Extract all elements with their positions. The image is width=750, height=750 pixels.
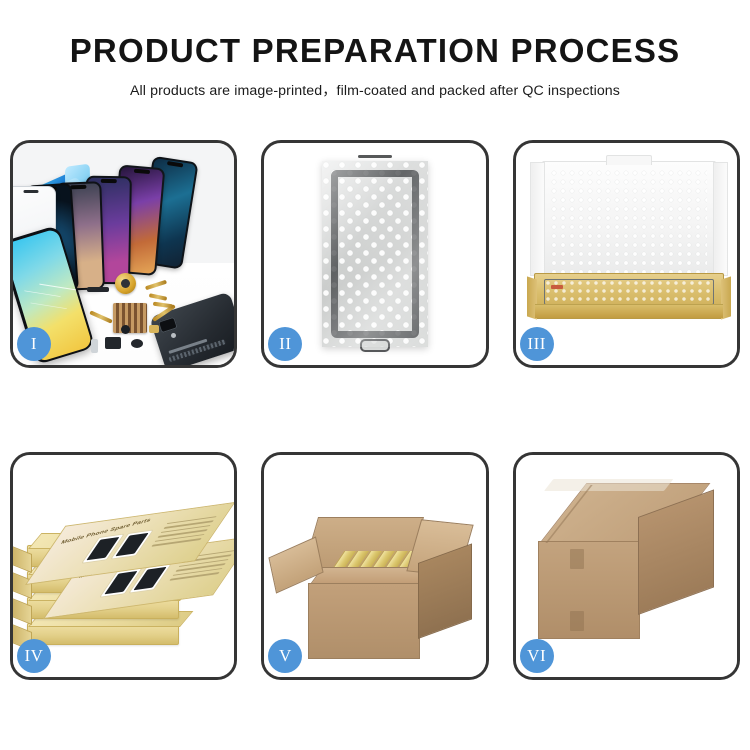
lid-flap-left (530, 162, 545, 276)
sim-tray-icon (91, 339, 98, 353)
sealed-carton-front-face (538, 541, 640, 639)
flex-cable-2 (149, 293, 167, 301)
home-button (360, 339, 390, 352)
step-badge-1: I (17, 327, 51, 361)
step-badge-6: VI (520, 639, 554, 673)
steps-row-1: I II (10, 140, 740, 368)
page-subtitle: All products are image-printed，film-coat… (0, 80, 750, 100)
lid-flap-right (713, 162, 728, 276)
lid-tab (606, 155, 652, 165)
steps-grid: I II (10, 140, 740, 680)
camera-lens-icon (121, 325, 130, 334)
step-panel-5[interactable]: V (261, 452, 488, 680)
header: PRODUCT PREPARATION PROCESS All products… (0, 0, 750, 100)
loudspeaker-icon (105, 337, 121, 349)
step-panel-2[interactable]: II (261, 140, 488, 368)
speaker-coil-icon (115, 273, 136, 294)
ic-chip-icon (113, 303, 147, 333)
carton-tab-bottom (570, 611, 584, 631)
carton-front-face (308, 583, 420, 659)
flex-cable-1 (145, 280, 167, 291)
screw-set-icon (171, 333, 176, 338)
step-badge-4: IV (17, 639, 51, 673)
flex-cable-5 (153, 302, 173, 309)
step-panel-3[interactable]: III (513, 140, 740, 368)
carton-tab-top (570, 549, 584, 569)
bubble-wrapped-screen (322, 161, 428, 347)
kraft-box-tray (534, 273, 724, 319)
screen-bezel (331, 170, 419, 338)
vibration-motor-icon (131, 339, 143, 348)
step-panel-1[interactable]: I (10, 140, 237, 368)
earpiece-slot (358, 155, 392, 158)
step-panel-6[interactable]: VI (513, 452, 740, 680)
carton-seal-tape (544, 479, 673, 491)
spare-parts-cluster (87, 273, 205, 361)
earpiece-mesh-icon (87, 287, 109, 292)
stacked-box-5 (27, 623, 179, 645)
page-title: PRODUCT PREPARATION PROCESS (0, 34, 750, 67)
tray-front-face (535, 304, 723, 318)
flex-cable-3 (89, 310, 113, 323)
wrapped-screen-in-tray (544, 279, 714, 305)
steps-row-2: Mobile Phone Spare Parts Mobile Phone Sp… (10, 452, 740, 680)
product-preparation-infographic: PRODUCT PREPARATION PROCESS All products… (0, 0, 750, 750)
step-panel-4[interactable]: Mobile Phone Spare Parts Mobile Phone Sp… (10, 452, 237, 680)
connector-icon (149, 325, 159, 333)
step-badge-3: III (520, 327, 554, 361)
foam-box-lid (542, 161, 716, 285)
